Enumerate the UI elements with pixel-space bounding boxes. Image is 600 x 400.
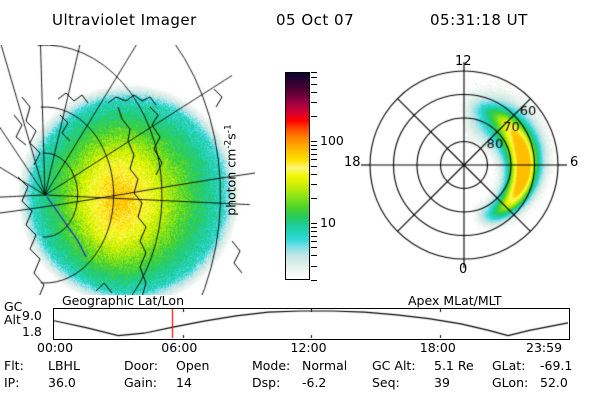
colorbar-tick [311, 236, 317, 237]
colorbar-tick [311, 77, 317, 78]
colorbar-tick [311, 184, 317, 185]
colorbar-tick [311, 266, 317, 267]
orbit-y-axis-label: GC Alt [4, 300, 20, 326]
colorbar-tick [311, 154, 317, 155]
status-label: Door: [124, 360, 158, 373]
status-value: LBHL [48, 360, 80, 373]
colorbar-tick [311, 280, 317, 281]
status-panel: Flt:LBHLDoor:OpenMode:NormalGC Alt:5.1 R… [0, 360, 600, 394]
status-label: IP: [4, 377, 19, 390]
colorbar-tick [311, 141, 317, 142]
colorbar-axis-label: photon cm-2s-1 [223, 124, 238, 215]
apex-polar-panel[interactable]: 121860 [350, 45, 600, 295]
status-value: 14 [176, 377, 192, 390]
mlt-label-0: 0 [459, 263, 467, 276]
orbit-x-tick: 23:59 [526, 342, 562, 355]
mlt-label-6: 6 [570, 156, 578, 169]
status-value: 52.0 [540, 377, 568, 390]
status-value: Normal [302, 360, 347, 373]
status-value: 36.0 [48, 377, 76, 390]
colorbar-tick [311, 84, 317, 85]
colorbar-tick [311, 255, 317, 256]
colorbar-tick [311, 227, 317, 228]
observation-time: 05:31:18 UT [430, 11, 528, 29]
colorbar-unit-mid: s [224, 133, 239, 140]
polar-aurora-dial[interactable] [350, 45, 600, 295]
status-label: GLat: [492, 360, 525, 373]
colorbar-tick [311, 149, 317, 150]
mlt-label-18: 18 [344, 156, 361, 169]
apex-caption: Apex MLat/MLT [408, 293, 502, 308]
colorbar-tick [311, 223, 317, 224]
intensity-colorbar: 10010 photon cm-2s-1 [283, 66, 353, 291]
status-label: GC Alt: [372, 360, 416, 373]
colorbar-tick [311, 116, 317, 117]
status-label: GLon: [492, 377, 528, 390]
colorbar-tick [311, 145, 317, 146]
orbit-altitude-trace [54, 309, 568, 338]
geographic-image-panel[interactable] [0, 45, 255, 295]
status-value: 5.1 Re [434, 360, 474, 373]
colorbar-gradient-box [285, 72, 310, 280]
geographic-caption: Geographic Lat/Lon [62, 293, 184, 308]
colorbar-tick [311, 241, 317, 242]
orbit-altitude-plot[interactable] [53, 308, 570, 340]
orbit-x-tick: 12:00 [291, 342, 327, 355]
status-value: -69.1 [540, 360, 572, 373]
header-bar: Ultraviolet Imager 05 Oct 07 05:31:18 UT [0, 6, 600, 34]
status-value: 39 [434, 377, 450, 390]
orbit-y-tick: 9.0 [22, 310, 42, 323]
colorbar-tick [311, 102, 317, 103]
colorbar-tick [311, 92, 317, 93]
colorbar-unit-exp1: -2 [223, 140, 233, 149]
colorbar-tick [311, 247, 317, 248]
colorbar-tick [311, 72, 317, 73]
orbit-y-label-line2: Alt [4, 313, 20, 326]
status-label: Gain: [124, 377, 157, 390]
status-row-2: IP:36.0Gain:14Dsp:-6.2Seq:39GLon:52.0 [0, 377, 600, 394]
status-label: Flt: [4, 360, 24, 373]
colorbar-unit-main: photon cm [224, 149, 239, 216]
colorbar-tick [311, 166, 317, 167]
colorbar-tick [311, 198, 317, 199]
status-value: -6.2 [302, 377, 326, 390]
orbit-x-tick: 00:00 [37, 342, 73, 355]
colorbar-unit-exp2: -1 [223, 124, 233, 133]
instrument-title: Ultraviolet Imager [52, 11, 197, 29]
colorbar-tick-label: 100 [320, 135, 344, 148]
colorbar-tick [311, 174, 317, 175]
orbit-x-tick: 18:00 [420, 342, 456, 355]
colorbar-gradient [286, 73, 309, 279]
observation-date: 05 Oct 07 [276, 11, 354, 29]
status-value: Open [176, 360, 209, 373]
colorbar-tick-label: 10 [320, 217, 336, 230]
status-label: Dsp: [252, 377, 280, 390]
status-label: Seq: [372, 377, 400, 390]
mlt-label-12: 12 [455, 55, 472, 68]
orbit-y-tick: 1.8 [22, 326, 42, 339]
geographic-aurora-image[interactable] [0, 45, 255, 295]
orbit-x-tick: 06:00 [161, 342, 197, 355]
colorbar-tick [311, 231, 317, 232]
status-label: Mode: [252, 360, 290, 373]
colorbar-tick [311, 159, 317, 160]
